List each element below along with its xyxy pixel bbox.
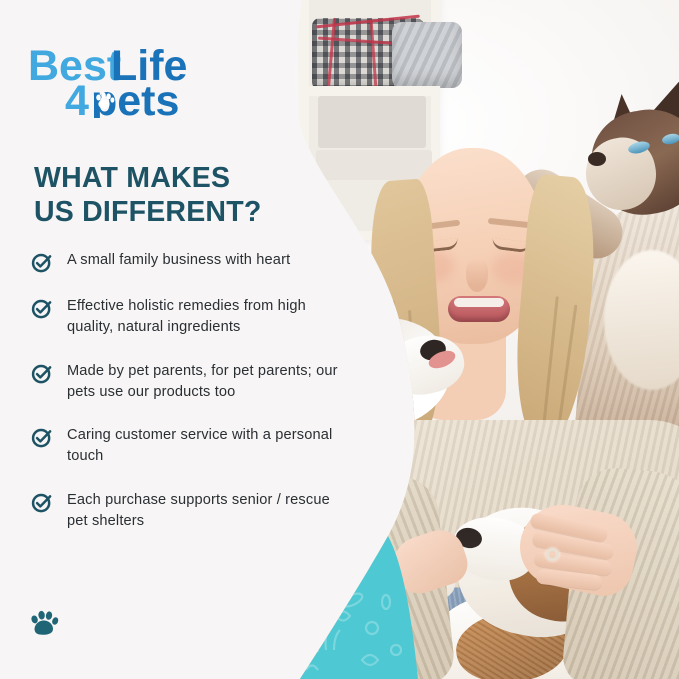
- page-title: WHAT MAKES US DIFFERENT?: [34, 162, 324, 229]
- benefits-list: A small family business with heart Effec…: [30, 250, 350, 532]
- list-item-label: Each purchase supports senior / rescue p…: [67, 490, 345, 533]
- list-item: Effective holistic remedies from high qu…: [30, 296, 350, 339]
- check-circle-icon: [30, 491, 53, 514]
- list-item: Each purchase supports senior / rescue p…: [30, 490, 350, 533]
- list-item: Caring customer service with a personal …: [30, 425, 350, 468]
- photo-dog1-eye: [366, 348, 375, 357]
- paw-print-icon: [24, 604, 64, 644]
- headline-line-2: US DIFFERENT?: [34, 196, 324, 230]
- photo-grey-cloth: [392, 22, 462, 88]
- check-circle-icon: [30, 251, 53, 274]
- headline-line-1: WHAT MAKES: [34, 162, 324, 196]
- content-panel: Best Life 4 pets WHAT MAKES US DIFFERENT…: [0, 0, 340, 679]
- list-item: Made by pet parents, for pet parents; ou…: [30, 361, 350, 404]
- photo-woman-teeth: [454, 298, 504, 307]
- list-item-label: Caring customer service with a personal …: [67, 425, 345, 468]
- photo-woman-nose: [466, 258, 488, 292]
- brand-logo[interactable]: Best Life 4 pets: [28, 36, 258, 118]
- poster-canvas: Best Life 4 pets WHAT MAKES US DIFFERENT…: [0, 0, 679, 679]
- photo-wedding-ring: [546, 548, 559, 561]
- list-item-label: A small family business with heart: [67, 250, 290, 271]
- check-circle-icon: [30, 362, 53, 385]
- list-item-label: Effective holistic remedies from high qu…: [67, 296, 345, 339]
- logo-text-four: 4: [65, 77, 89, 118]
- photo-cat-nose: [588, 152, 606, 166]
- list-item: A small family business with heart: [30, 250, 350, 274]
- check-circle-icon: [30, 426, 53, 449]
- list-item-label: Made by pet parents, for pet parents; ou…: [67, 361, 345, 404]
- check-circle-icon: [30, 297, 53, 320]
